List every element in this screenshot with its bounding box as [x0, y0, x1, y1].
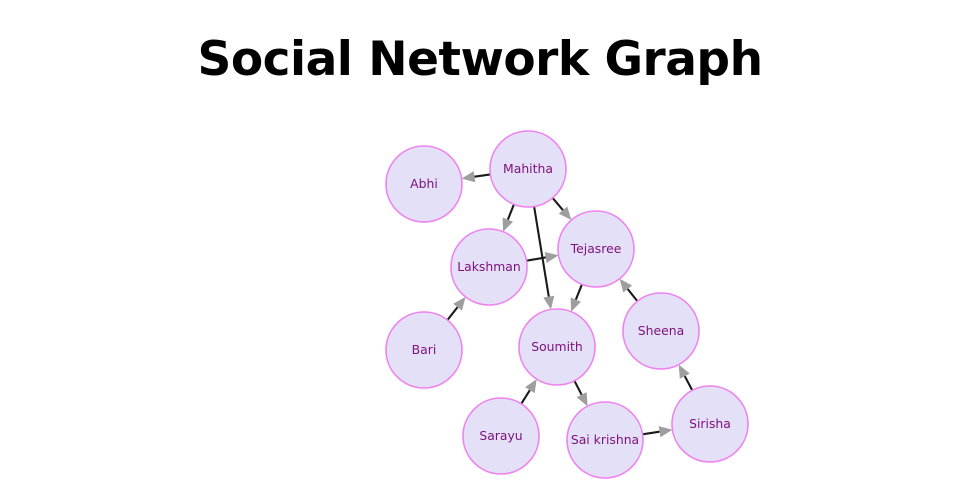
graph-canvas: AbhiMahithaLakshmanTejasreeBariSoumithSh… — [0, 0, 960, 500]
node-label: Bari — [412, 342, 437, 357]
edge-arrowhead — [659, 426, 673, 437]
node-label: Lakshman — [457, 259, 521, 274]
edge-arrowhead — [543, 296, 554, 310]
graph-edge — [679, 365, 693, 391]
graph-node-bari[interactable]: Bari — [386, 312, 462, 388]
graph-edge — [574, 381, 587, 406]
edge-arrowhead — [462, 171, 476, 182]
node-label: Sheena — [638, 323, 684, 338]
graph-edge — [462, 171, 491, 182]
edge-arrowhead — [525, 379, 537, 393]
graph-node-sheena[interactable]: Sheena — [623, 293, 699, 369]
graph-node-abhi[interactable]: Abhi — [386, 146, 462, 222]
graph-node-tejasree[interactable]: Tejasree — [558, 211, 634, 287]
node-label: Mahitha — [503, 161, 553, 176]
node-label: Sarayu — [479, 428, 522, 443]
node-label: Abhi — [410, 176, 438, 191]
graph-node-sirisha[interactable]: Sirisha — [672, 386, 748, 462]
graph-edge — [503, 204, 514, 231]
graph-node-sarayu[interactable]: Sarayu — [463, 398, 539, 474]
graph-edge — [553, 198, 572, 220]
node-label: Sirisha — [689, 416, 731, 431]
graph-edge — [447, 297, 465, 320]
node-label: Sai krishna — [571, 432, 639, 447]
graph-edge — [521, 379, 537, 404]
node-label: Tejasree — [570, 241, 622, 256]
graph-node-lakshman[interactable]: Lakshman — [451, 229, 527, 305]
edge-arrowhead — [545, 252, 559, 263]
graph-node-mahitha[interactable]: Mahitha — [490, 131, 566, 207]
edge-arrowhead — [453, 297, 465, 311]
graph-edge — [643, 426, 673, 437]
nodes-layer: AbhiMahithaLakshmanTejasreeBariSoumithSh… — [386, 131, 748, 478]
graph-node-soumith[interactable]: Soumith — [519, 309, 595, 385]
graph-node-sai-krishna[interactable]: Sai krishna — [567, 402, 643, 478]
social-network-graph-app: Social Network Graph AbhiMahithaLakshman… — [0, 0, 960, 500]
graph-edge — [620, 279, 638, 301]
graph-edge — [571, 284, 582, 311]
edge-arrowhead — [571, 298, 581, 312]
node-label: Soumith — [531, 339, 583, 354]
edge-arrowhead — [620, 279, 632, 293]
edge-arrowhead — [503, 218, 513, 232]
